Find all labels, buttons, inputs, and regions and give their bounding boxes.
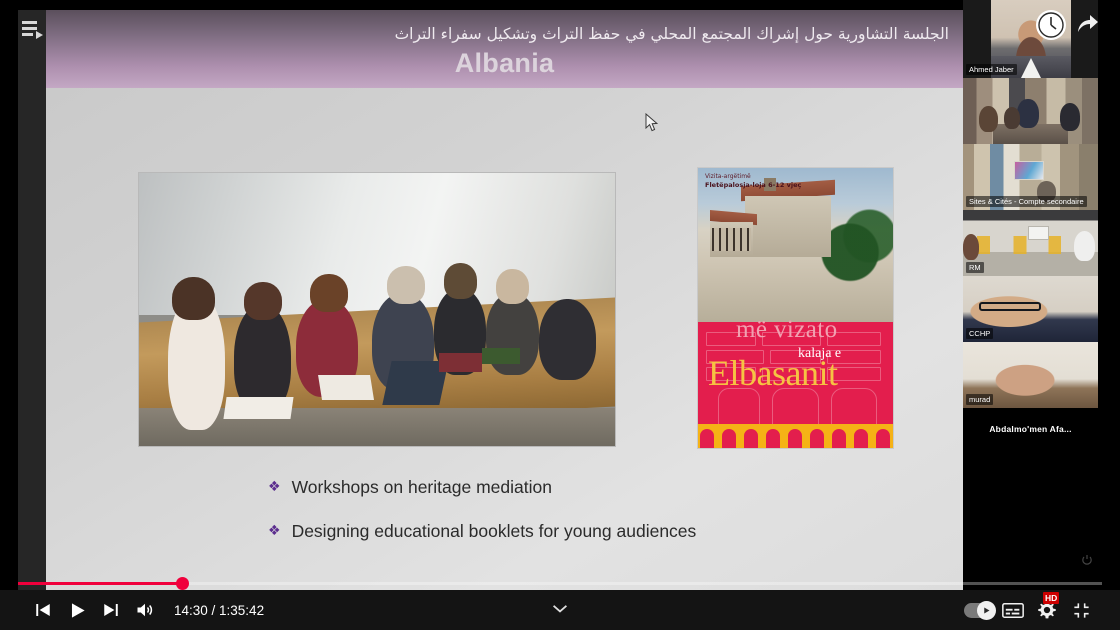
previous-button[interactable] (26, 593, 60, 627)
slide-bullet-list: ❖ Workshops on heritage mediation ❖ Desi… (268, 476, 888, 564)
participant-filmstrip[interactable]: Ahmed Jaber (963, 0, 1098, 630)
presentation-slide: الجلسة التشاورية حول إشراك المجتمع المحل… (46, 10, 963, 595)
elbasan-booklet-poster: Vizita-argëtimë Fletëpalosja-loja 6-12 v… (698, 168, 893, 448)
page-title: Albania (46, 48, 963, 79)
participant-name-label: Abdalmo'men Afa... (963, 408, 1098, 450)
bullet-text: Workshops on heritage mediation (292, 476, 552, 498)
poster-title-line3: Elbasanit (708, 352, 837, 394)
poster-title-line1: më vizato (736, 316, 837, 344)
list-item: ❖ Workshops on heritage mediation (268, 476, 888, 498)
participant-tile-room-group[interactable] (963, 78, 1098, 144)
diamond-bullet-icon: ❖ (268, 476, 281, 498)
progress-fill (18, 582, 183, 585)
video-player[interactable]: الجلسة التشاورية حول إشراك المجتمع المحل… (0, 0, 1120, 630)
workshop-meeting-photo (138, 172, 616, 447)
progress-bar[interactable] (18, 580, 1102, 586)
quality-badge: HD (1043, 592, 1059, 604)
next-button[interactable] (94, 593, 128, 627)
power-icon (1081, 553, 1093, 565)
share-icon[interactable] (1075, 12, 1099, 36)
participant-tile-murad[interactable]: murad (963, 342, 1098, 408)
playlist-play-icon[interactable] (20, 17, 46, 43)
settings-button[interactable]: HD (1030, 593, 1064, 627)
chevron-down-icon[interactable] (552, 601, 568, 619)
autoplay-toggle[interactable] (962, 593, 996, 627)
participant-tile-library-room[interactable]: Sites & Cités - Compte secondaire (963, 144, 1098, 210)
participant-name-label: CCHP (966, 328, 993, 339)
poster-kicker: Vizita-argëtimë Fletëpalosja-loja 6-12 v… (705, 173, 801, 190)
volume-button[interactable] (128, 593, 162, 627)
participant-name-label: RM (966, 262, 984, 273)
bullet-text: Designing educational booklets for young… (292, 520, 697, 542)
exit-fullscreen-button[interactable] (1064, 593, 1098, 627)
left-strip (18, 10, 46, 595)
participant-tile-rm[interactable]: RM (963, 210, 1098, 276)
participant-tile-cchp[interactable]: CCHP (963, 276, 1098, 342)
participant-name-label: Sites & Cités - Compte secondaire (966, 196, 1087, 207)
subtitles-button[interactable] (996, 593, 1030, 627)
video-surface[interactable]: الجلسة التشاورية حول إشراك المجتمع المحل… (0, 0, 1120, 630)
time-display: 14:30 / 1:35:42 (174, 603, 264, 618)
slide-title-arabic: الجلسة التشاورية حول إشراك المجتمع المحل… (69, 24, 949, 44)
diamond-bullet-icon: ❖ (268, 520, 281, 542)
participant-tile-abdalmomen[interactable]: Abdalmo'men Afa... (963, 408, 1098, 450)
participant-name-label: Ahmed Jaber (966, 64, 1017, 75)
clock-icon (1036, 10, 1066, 40)
play-button[interactable] (60, 593, 94, 627)
list-item: ❖ Designing educational booklets for you… (268, 520, 888, 542)
participant-name-label: murad (966, 394, 993, 405)
